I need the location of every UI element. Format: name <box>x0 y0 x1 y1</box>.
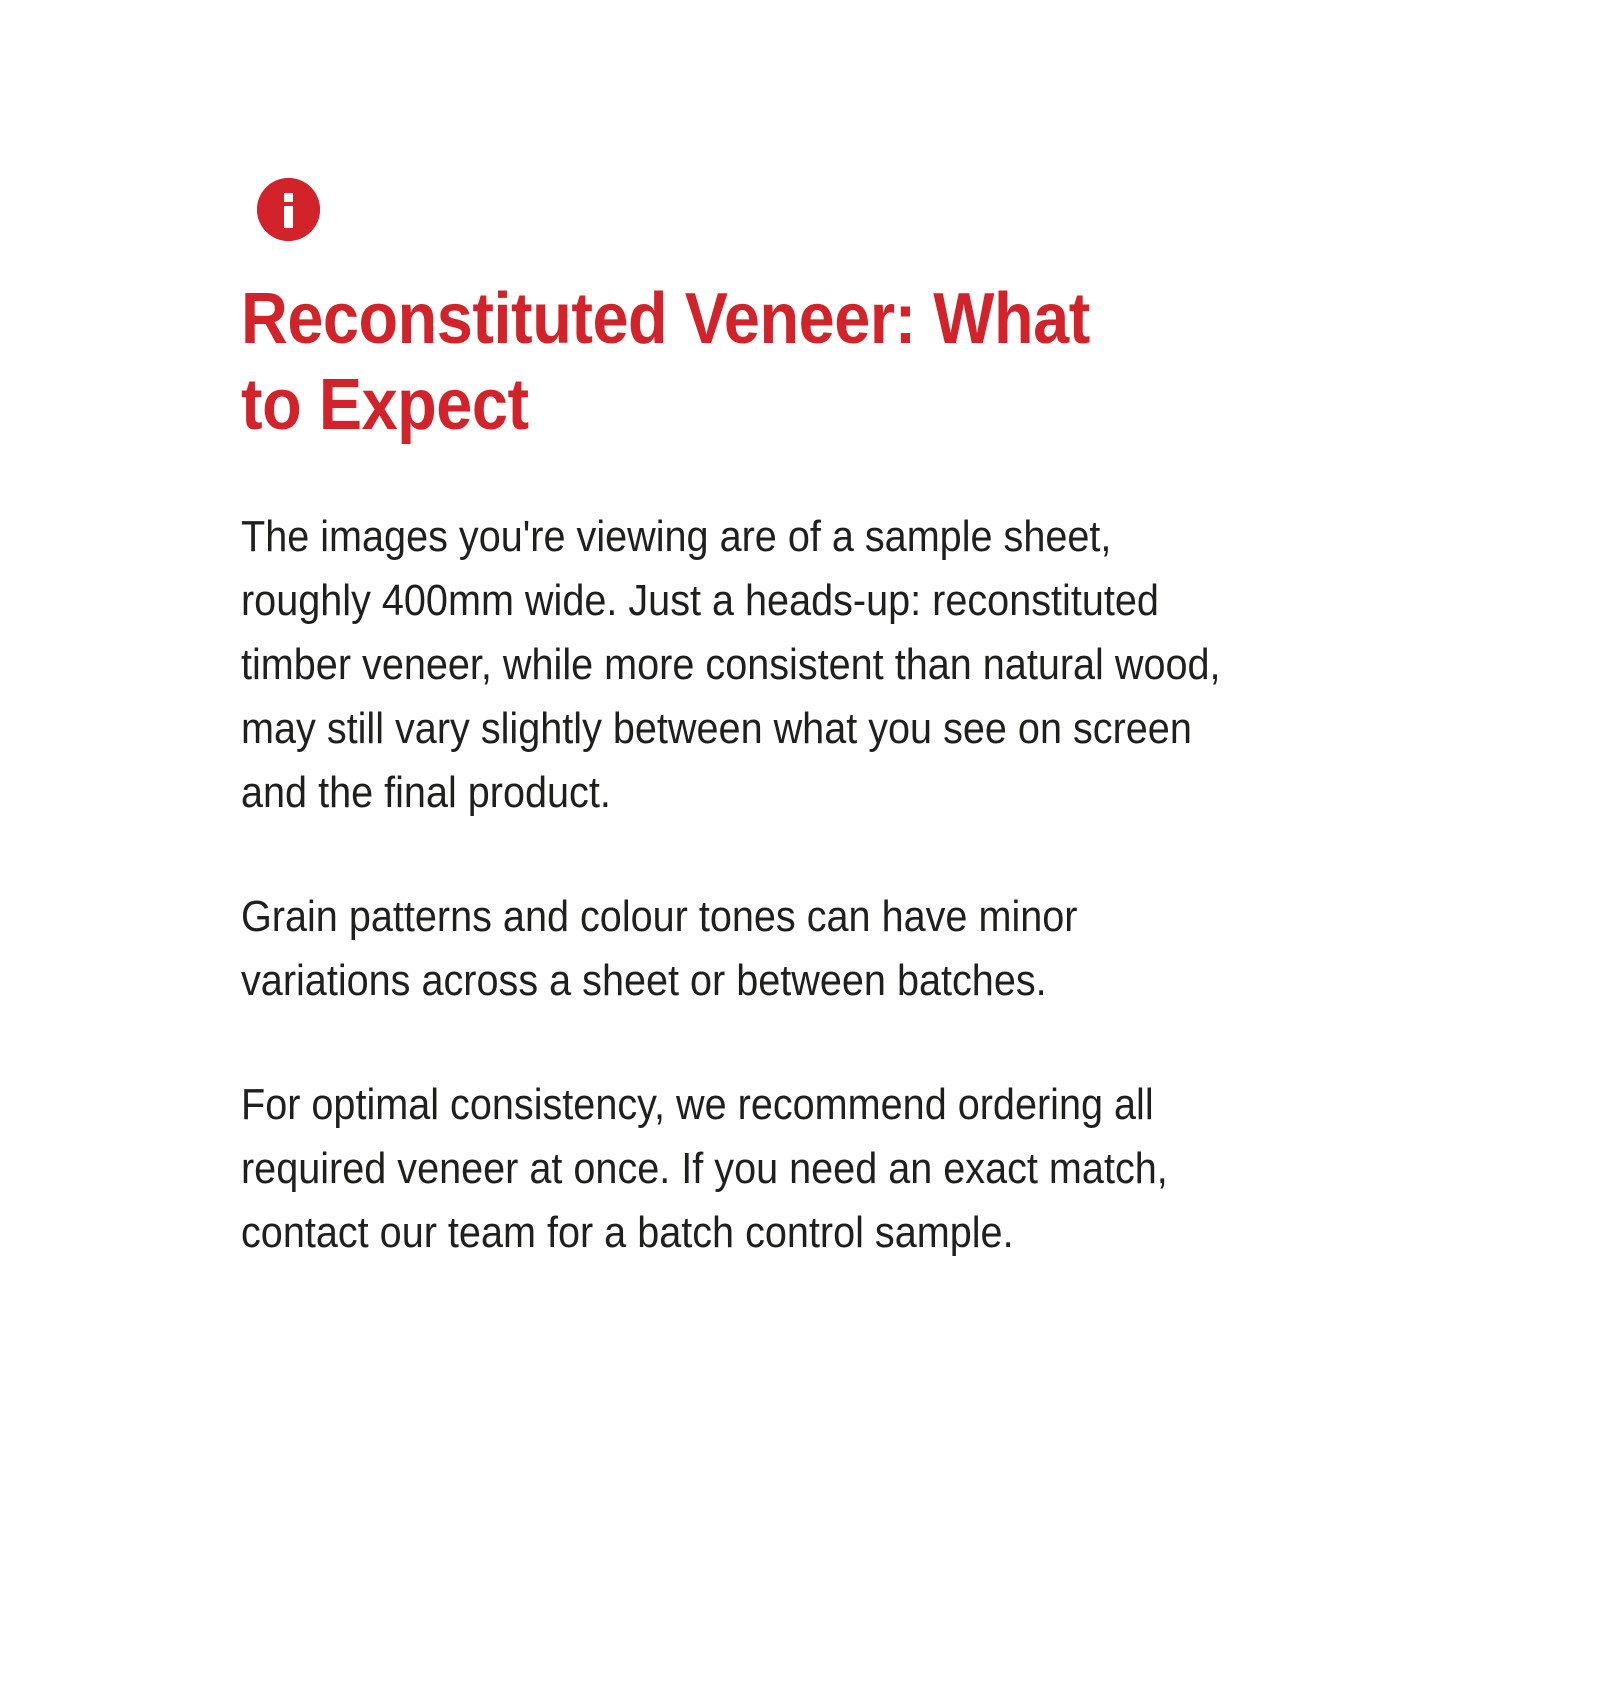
notice-paragraph: Grain patterns and colour tones can have… <box>241 885 1249 1013</box>
notice-paragraph: For optimal consistency, we recommend or… <box>241 1073 1249 1265</box>
notice-paragraph: The images you're viewing are of a sampl… <box>241 505 1249 825</box>
info-icon <box>257 178 320 241</box>
page-title: Reconstituted Veneer: What to Expect <box>241 276 1146 448</box>
info-icon-container <box>257 178 320 241</box>
notice-body: The images you're viewing are of a sampl… <box>241 505 1361 1265</box>
